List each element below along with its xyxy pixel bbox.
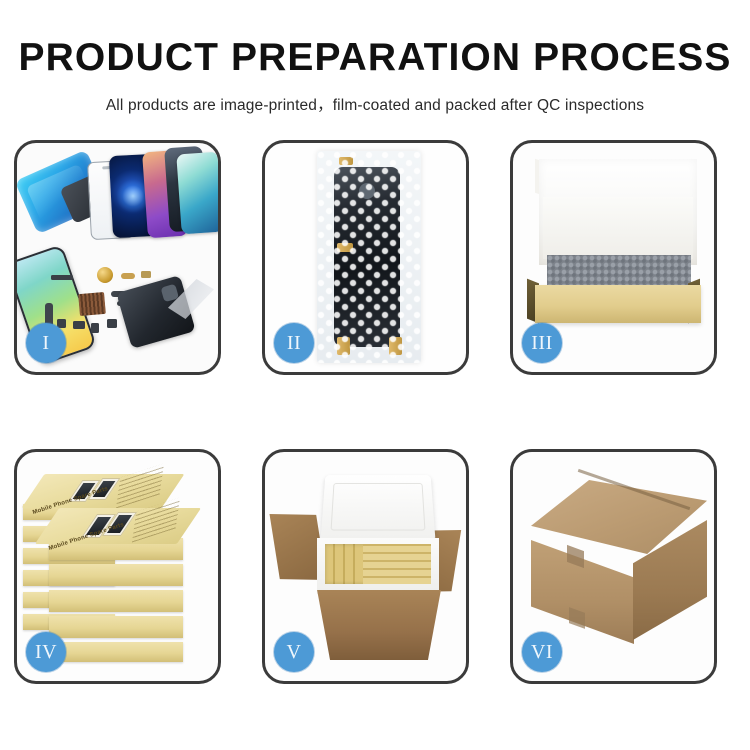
white-foam-sheet xyxy=(543,197,693,259)
stack-box-front-4 xyxy=(49,616,183,638)
small-part-gold-bracket xyxy=(121,273,135,279)
small-part-bracket xyxy=(73,321,85,329)
process-step-card-3[interactable]: III xyxy=(510,140,717,375)
step-badge-6: VI xyxy=(522,632,562,672)
stack-box-front-2 xyxy=(49,564,183,586)
process-step-card-6[interactable]: VI xyxy=(510,449,717,684)
process-step-card-2[interactable]: II xyxy=(262,140,469,375)
process-step-grid: I II III xyxy=(14,140,736,684)
foam-cooler-lid xyxy=(320,475,435,542)
small-part-connector xyxy=(51,275,73,280)
step-badge-5: V xyxy=(274,632,314,672)
process-step-card-1[interactable]: I xyxy=(14,140,221,375)
step-badge-1: I xyxy=(26,323,66,363)
small-part-camera xyxy=(107,319,117,328)
stack-box-front-5 xyxy=(49,642,183,662)
vibration-motor-part xyxy=(97,267,113,283)
step-badge-4: IV xyxy=(26,632,66,672)
page-title: PRODUCT PREPARATION PROCESS xyxy=(0,38,750,77)
kraft-box-front xyxy=(535,285,701,323)
step-badge-2: II xyxy=(274,323,314,363)
bubble-wrap-bag xyxy=(317,151,421,363)
page-subtitle: All products are image-printed，film-coat… xyxy=(0,93,750,115)
logic-board-chip xyxy=(78,292,106,316)
stack-box-front-3 xyxy=(49,590,183,612)
process-step-card-4[interactable]: Mobile Phone Spare Parts Mobile Phone Sp… xyxy=(14,449,221,684)
page-header: PRODUCT PREPARATION PROCESS All products… xyxy=(0,0,750,115)
step-badge-3: III xyxy=(522,323,562,363)
small-part-screw-plate xyxy=(141,271,151,278)
packed-kraft-boxes xyxy=(325,544,431,584)
process-step-card-5[interactable]: V xyxy=(262,449,469,684)
bubble-texture xyxy=(317,151,421,363)
small-part-speaker xyxy=(91,323,99,333)
carton-front-panel xyxy=(307,590,451,660)
phone-display-teal xyxy=(176,152,218,235)
grey-foam-insert xyxy=(547,255,691,287)
